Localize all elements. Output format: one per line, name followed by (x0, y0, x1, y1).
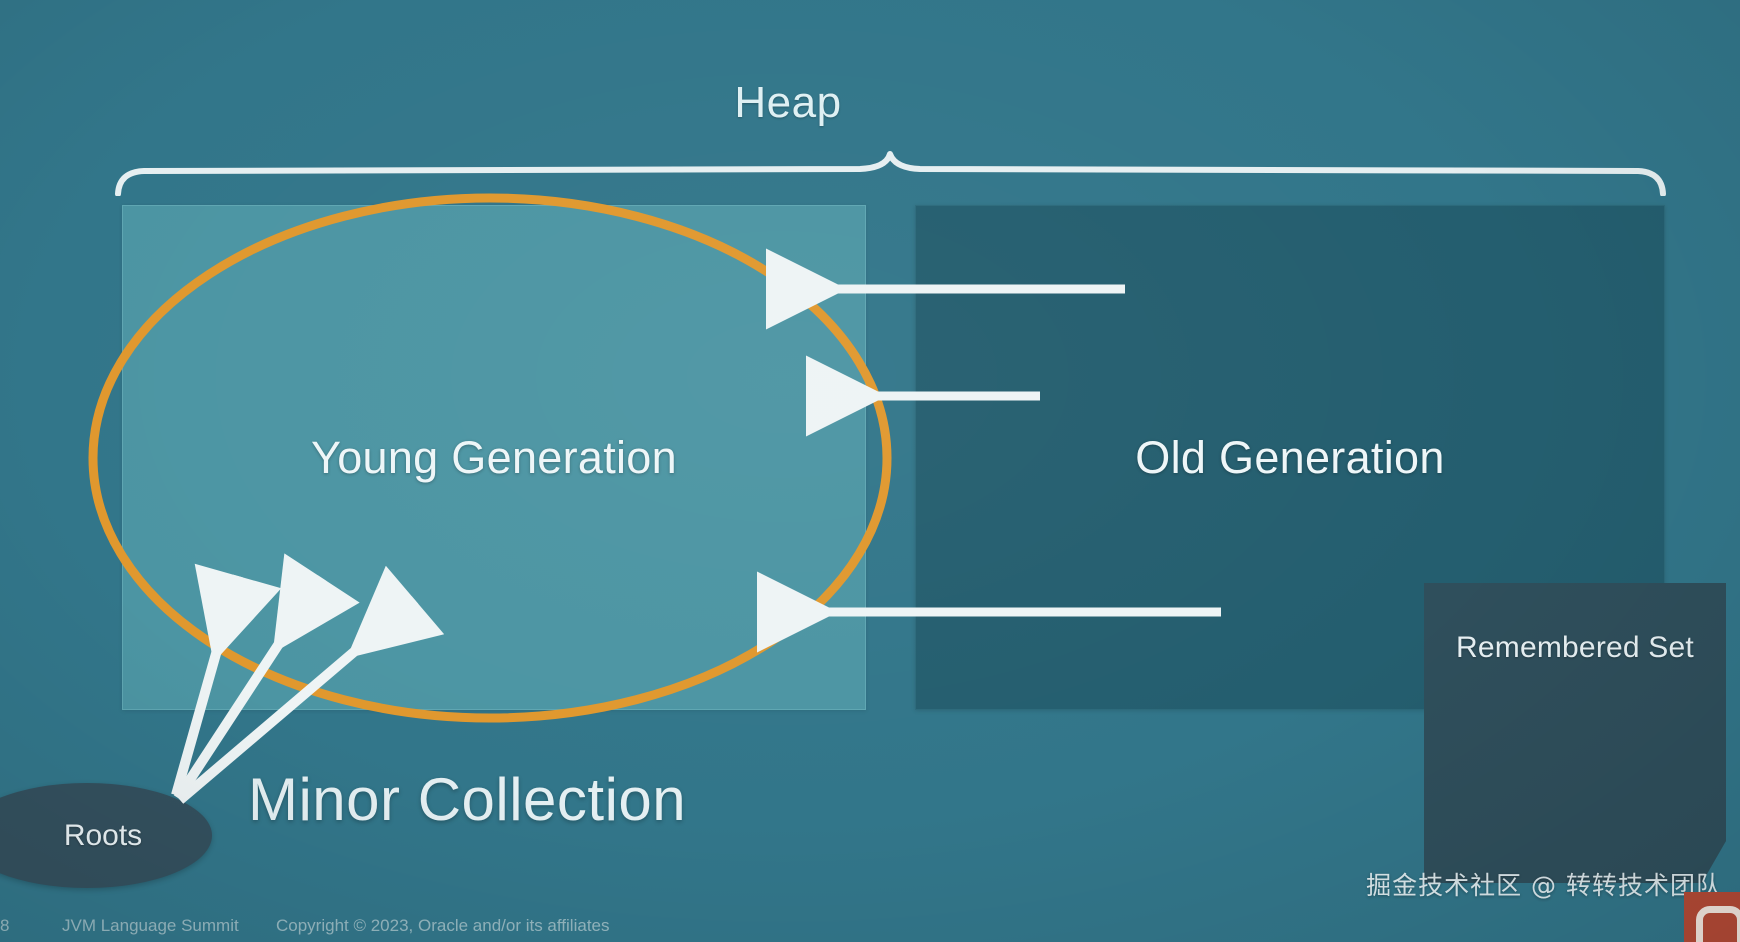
corner-logo-icon (1684, 892, 1740, 942)
slide-canvas: Heap Young Generation Old Generation Rem… (0, 0, 1740, 942)
minor-collection-highlight-ellipse (93, 198, 887, 718)
footer-copyright: Copyright © 2023, Oracle and/or its affi… (276, 916, 610, 936)
minor-collection-caption: Minor Collection (248, 765, 686, 834)
footer-event-name: JVM Language Summit (62, 916, 239, 936)
watermark-text: 掘金技术社区 @ 转转技术团队 (1366, 866, 1722, 902)
slide-footer: 8 JVM Language Summit Copyright © 2023, … (0, 900, 1740, 942)
corner-logo-ring-icon (1696, 906, 1740, 942)
slide-number: 8 (0, 916, 9, 936)
